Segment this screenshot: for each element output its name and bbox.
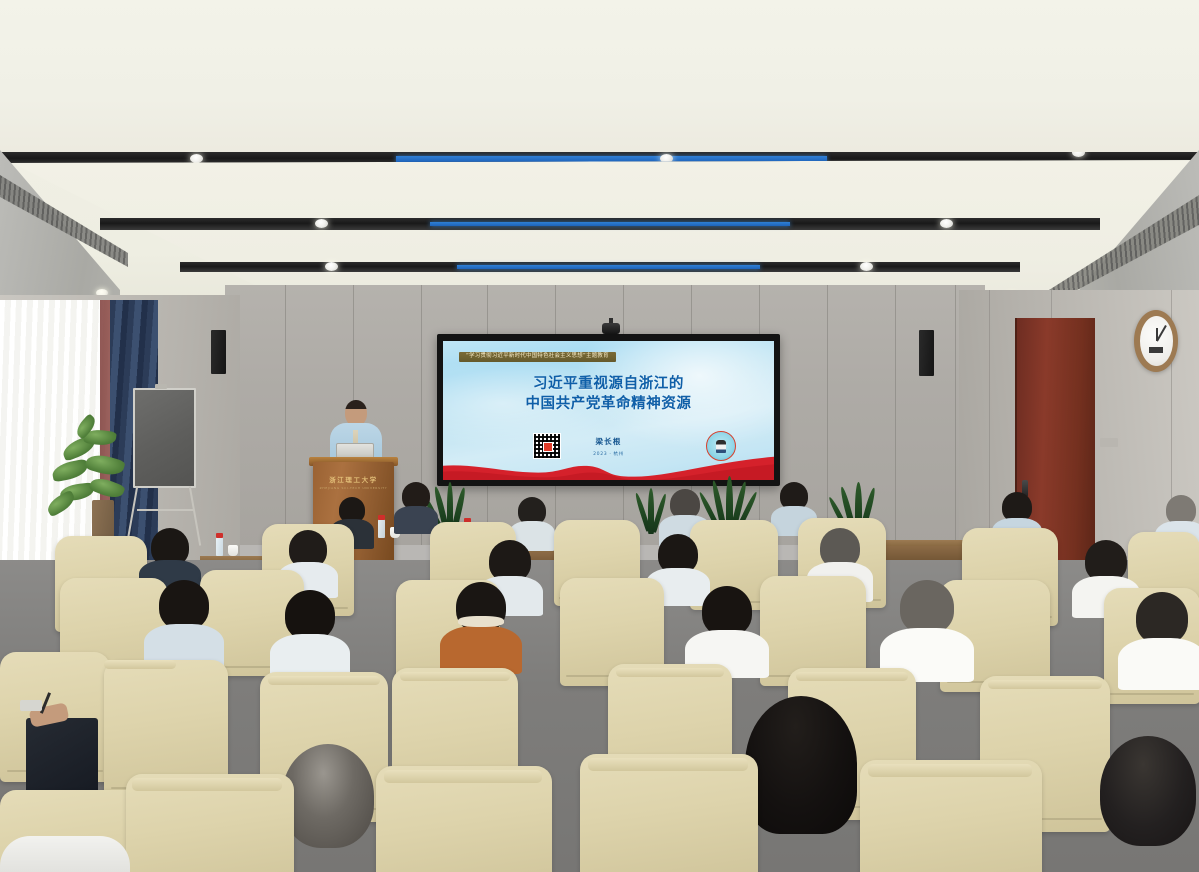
- flipchart-clip: [155, 384, 167, 389]
- ceiling-light-beam-2: [100, 218, 1100, 230]
- attendee: [1128, 592, 1196, 682]
- water-bottle: [216, 537, 223, 556]
- slide-date-location: 2023 · 杭州: [593, 451, 624, 457]
- attendee-front: [742, 696, 860, 872]
- flipchart-board: [133, 388, 196, 488]
- water-bottle: [378, 519, 385, 538]
- attendee-front: [1096, 736, 1199, 872]
- podium-university-name: 浙江理工大学: [313, 474, 394, 484]
- chair-armrest: [268, 676, 380, 685]
- ceiling-panel-outer: [0, 0, 1199, 160]
- clock-face: [1140, 316, 1173, 366]
- podium-university-subtext: ZHEJIANG SCI-TECH UNIVERSITY: [313, 486, 394, 490]
- circular-emblem-icon: [706, 431, 736, 461]
- slide-title: 习近平重视源自浙江的 中国共产党革命精神资源: [443, 375, 774, 414]
- clock-brand-mark: [1149, 347, 1162, 353]
- downlight-icon: [190, 154, 203, 163]
- chair-armrest: [400, 672, 510, 681]
- attendee-sleeve: [0, 836, 130, 872]
- slide-banner-text: “学习贯彻习近平新时代中国特色社会主义思想”主题教育: [459, 352, 616, 362]
- qr-code-icon: [533, 433, 561, 459]
- attendee-front: [280, 744, 376, 872]
- attendee: [396, 482, 436, 532]
- chair-armrest: [132, 778, 282, 791]
- wall-speaker-icon: [919, 330, 934, 376]
- flipchart-crossbar: [137, 509, 193, 511]
- chair-armrest: [796, 672, 908, 681]
- downlight-icon: [325, 262, 338, 271]
- chair-armrest: [988, 680, 1102, 689]
- slide-content: “学习贯彻习近平新时代中国特色社会主义思想”主题教育 习近平重视源自浙江的 中国…: [443, 341, 774, 480]
- attendee: [278, 590, 342, 674]
- chair-armrest: [384, 770, 542, 783]
- chair-armrest: [868, 764, 1032, 777]
- slide-author-name: 梁长根: [595, 436, 621, 447]
- downlight-icon: [860, 262, 873, 271]
- chair-armrest: [104, 660, 176, 669]
- presentation-display[interactable]: “学习贯彻习近平新时代中国特色社会主义思想”主题教育 习近平重视源自浙江的 中国…: [437, 334, 780, 486]
- attendee: [152, 580, 216, 662]
- downlight-icon: [940, 219, 953, 228]
- attendee: [694, 586, 760, 672]
- downlight-icon: [315, 219, 328, 228]
- light-switch-icon[interactable]: [1100, 438, 1118, 447]
- led-strip-icon: [430, 222, 790, 227]
- ceiling-light-beam-3: [180, 262, 1020, 272]
- chair-armrest: [616, 668, 724, 677]
- notebook: [20, 700, 42, 711]
- video-conference-camera-icon: [600, 318, 622, 335]
- wall-speaker-icon: [211, 330, 226, 374]
- slide-title-line-2: 中国共产党革命精神资源: [443, 395, 774, 415]
- led-strip-icon: [396, 156, 828, 161]
- slide-title-line-1: 习近平重视源自浙江的: [443, 375, 774, 395]
- led-strip-icon: [457, 265, 759, 269]
- conference-room-scene: “学习贯彻习近平新时代中国特色社会主义思想”主题教育 习近平重视源自浙江的 中国…: [0, 0, 1199, 872]
- conference-chair[interactable]: [580, 754, 758, 872]
- chair-armrest: [588, 758, 748, 771]
- attendee-necklace: [448, 616, 514, 636]
- tea-cup: [228, 545, 238, 556]
- attendee: [892, 580, 962, 672]
- wall-clock: [1134, 310, 1178, 372]
